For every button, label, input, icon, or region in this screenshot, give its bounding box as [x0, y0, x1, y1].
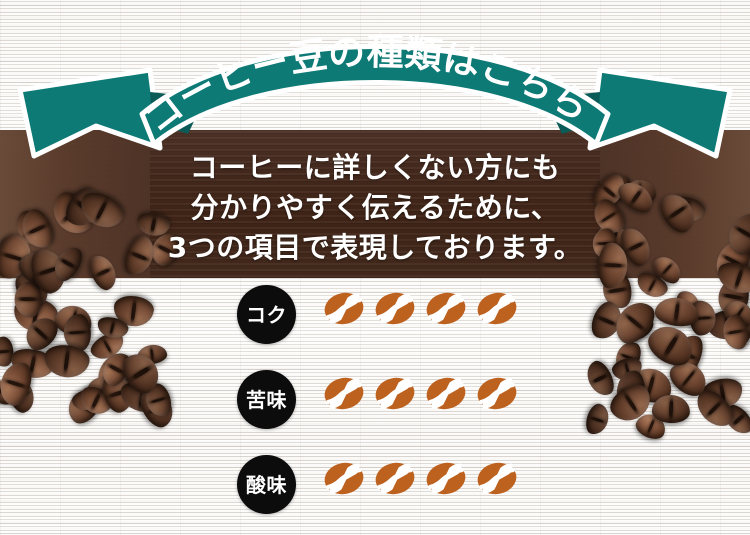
ribbon-tail-left: [20, 70, 160, 156]
intro-line-3: 3つの項目で表現しております。: [0, 228, 750, 268]
intro-line-1: コーヒーに詳しくない方にも: [0, 148, 750, 188]
ribbon-band: [142, 47, 608, 145]
rating-bean-meter: [324, 461, 517, 496]
intro-line-2: 分かりやすく伝えるために、: [0, 188, 750, 228]
rating-row: 酸味: [0, 452, 750, 535]
coffee-bean-icon: [477, 461, 517, 496]
coffee-bean-icon: [426, 376, 466, 411]
coffee-bean-icon: [324, 376, 364, 411]
coffee-bean-icon: [426, 291, 466, 326]
rating-row: コク: [0, 282, 750, 367]
promo-graphic: コーヒー豆の種類はこちら! コーヒーに詳しくない方にも 分かりやすく伝えるために…: [0, 0, 750, 535]
ribbon-banner: [0, 22, 750, 152]
coffee-bean-icon: [477, 291, 517, 326]
rating-label-badge: 酸味: [237, 455, 296, 514]
rating-bean-meter: [324, 376, 517, 411]
rating-label-text: コク: [246, 305, 287, 325]
rating-label-badge: 苦味: [237, 370, 296, 429]
coffee-bean-icon: [324, 461, 364, 496]
coffee-bean-icon: [375, 376, 415, 411]
rating-label-badge: コク: [237, 285, 296, 344]
rating-row: 苦味: [0, 367, 750, 452]
coffee-bean-icon: [324, 291, 364, 326]
coffee-bean-icon: [375, 291, 415, 326]
coffee-bean-icon: [426, 461, 466, 496]
ribbon-tail-right: [590, 70, 730, 156]
intro-copy: コーヒーに詳しくない方にも 分かりやすく伝えるために、 3つの項目で表現しており…: [0, 148, 750, 268]
rating-label-text: 酸味: [246, 475, 287, 495]
rating-bean-meter: [324, 291, 517, 326]
coffee-bean-icon: [375, 461, 415, 496]
coffee-bean-icon: [477, 376, 517, 411]
rating-rows: コク苦味酸味: [0, 282, 750, 535]
rating-label-text: 苦味: [246, 390, 287, 410]
